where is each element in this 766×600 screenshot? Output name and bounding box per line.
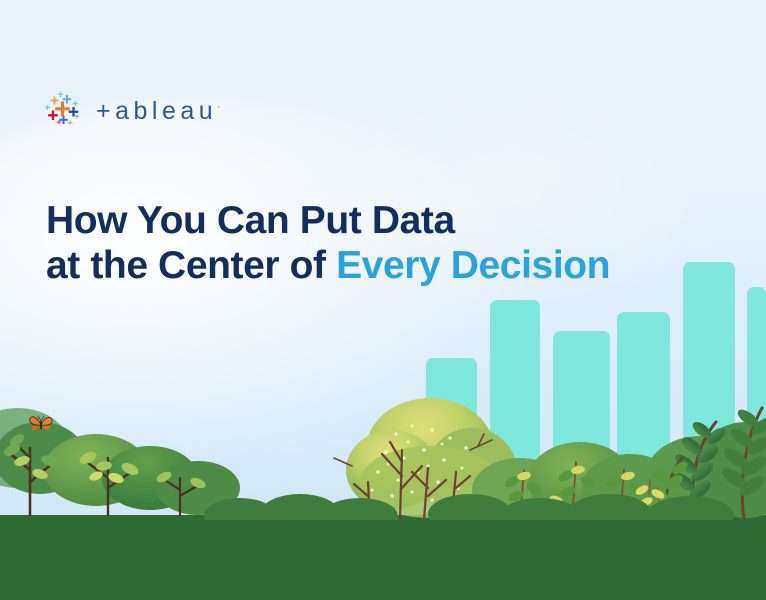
headline-accent-text: Every Decision <box>336 244 610 287</box>
tableau-wordmark-text: +ableau <box>96 97 217 125</box>
tableau-wordmark: +ableau· <box>96 99 220 124</box>
hero-banner: +ableau· How You Can Put Data at the Cen… <box>0 0 766 600</box>
page-title: How You Can Put Data at the Center of Ev… <box>46 198 610 288</box>
monarch-butterfly-icon <box>28 412 54 436</box>
tableau-plus-mark-icon <box>44 90 84 130</box>
ground-band <box>0 515 766 600</box>
headline-line-1: How You Can Put Data <box>46 198 610 243</box>
foliage-illustration <box>0 330 766 520</box>
tableau-logo[interactable]: +ableau· <box>44 90 220 130</box>
headline-line-2-plain: at the Center of <box>46 244 336 287</box>
headline-line-2: at the Center of Every Decision <box>46 243 610 288</box>
trademark-symbol: · <box>217 101 220 111</box>
